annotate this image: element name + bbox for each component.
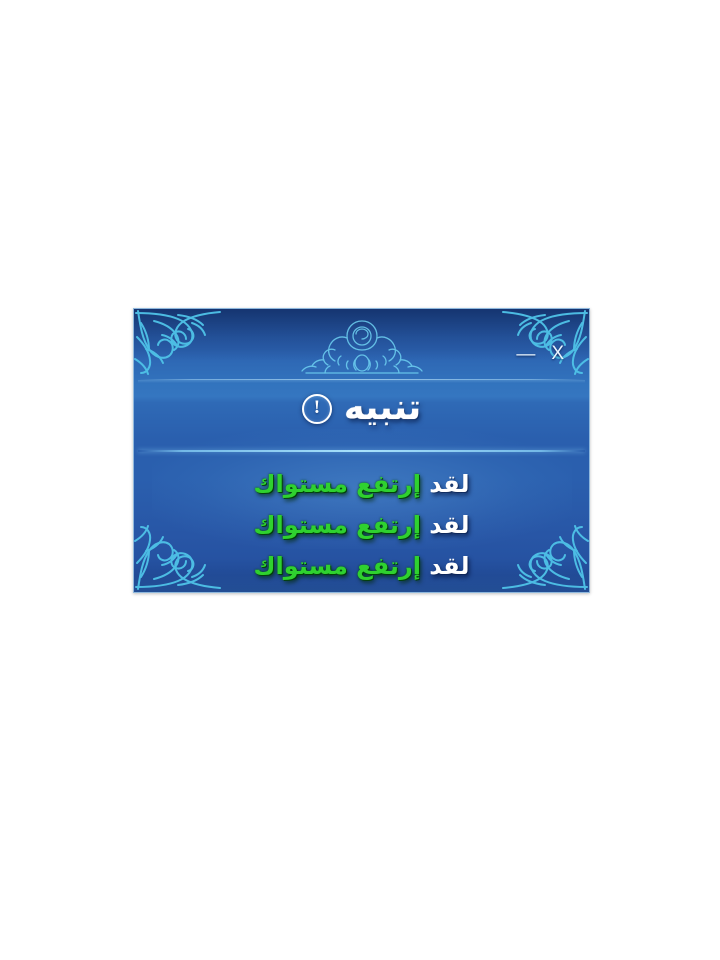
message-line: لقد إرتفع مستواك [254,464,470,505]
crown-filigree-ornament [286,315,438,377]
dialog-title-row: تنبيه ! [134,391,589,426]
divider-top [138,379,585,380]
minimize-button[interactable]: — [513,343,538,366]
message-line: لقد إرتفع مستواك [254,546,470,587]
warning-exclamation-icon: ! [302,394,332,424]
message-highlight: إرتفع مستواك [254,552,421,580]
message-highlight: إرتفع مستواك [254,511,421,539]
close-button[interactable]: X [548,342,567,365]
message-line: لقد إرتفع مستواك [254,505,470,546]
message-list: لقد إرتفع مستواك لقد إرتفع مستواك لقد إر… [134,464,589,587]
message-prefix: لقد [421,552,470,580]
warning-icon-glyph: ! [314,398,320,417]
message-prefix: لقد [421,470,470,498]
dialog-title: تنبيه [344,391,421,426]
screen-root: — X تنبيه ! لقد إرتفع مستواك لقد إرتفع م… [0,0,720,960]
corner-ornament-top-left [133,308,224,395]
message-prefix: لقد [421,511,470,539]
message-highlight: إرتفع مستواك [254,470,421,498]
window-controls: — X [513,342,567,365]
divider-below-title [138,450,585,452]
notice-dialog: — X تنبيه ! لقد إرتفع مستواك لقد إرتفع م… [133,308,590,593]
